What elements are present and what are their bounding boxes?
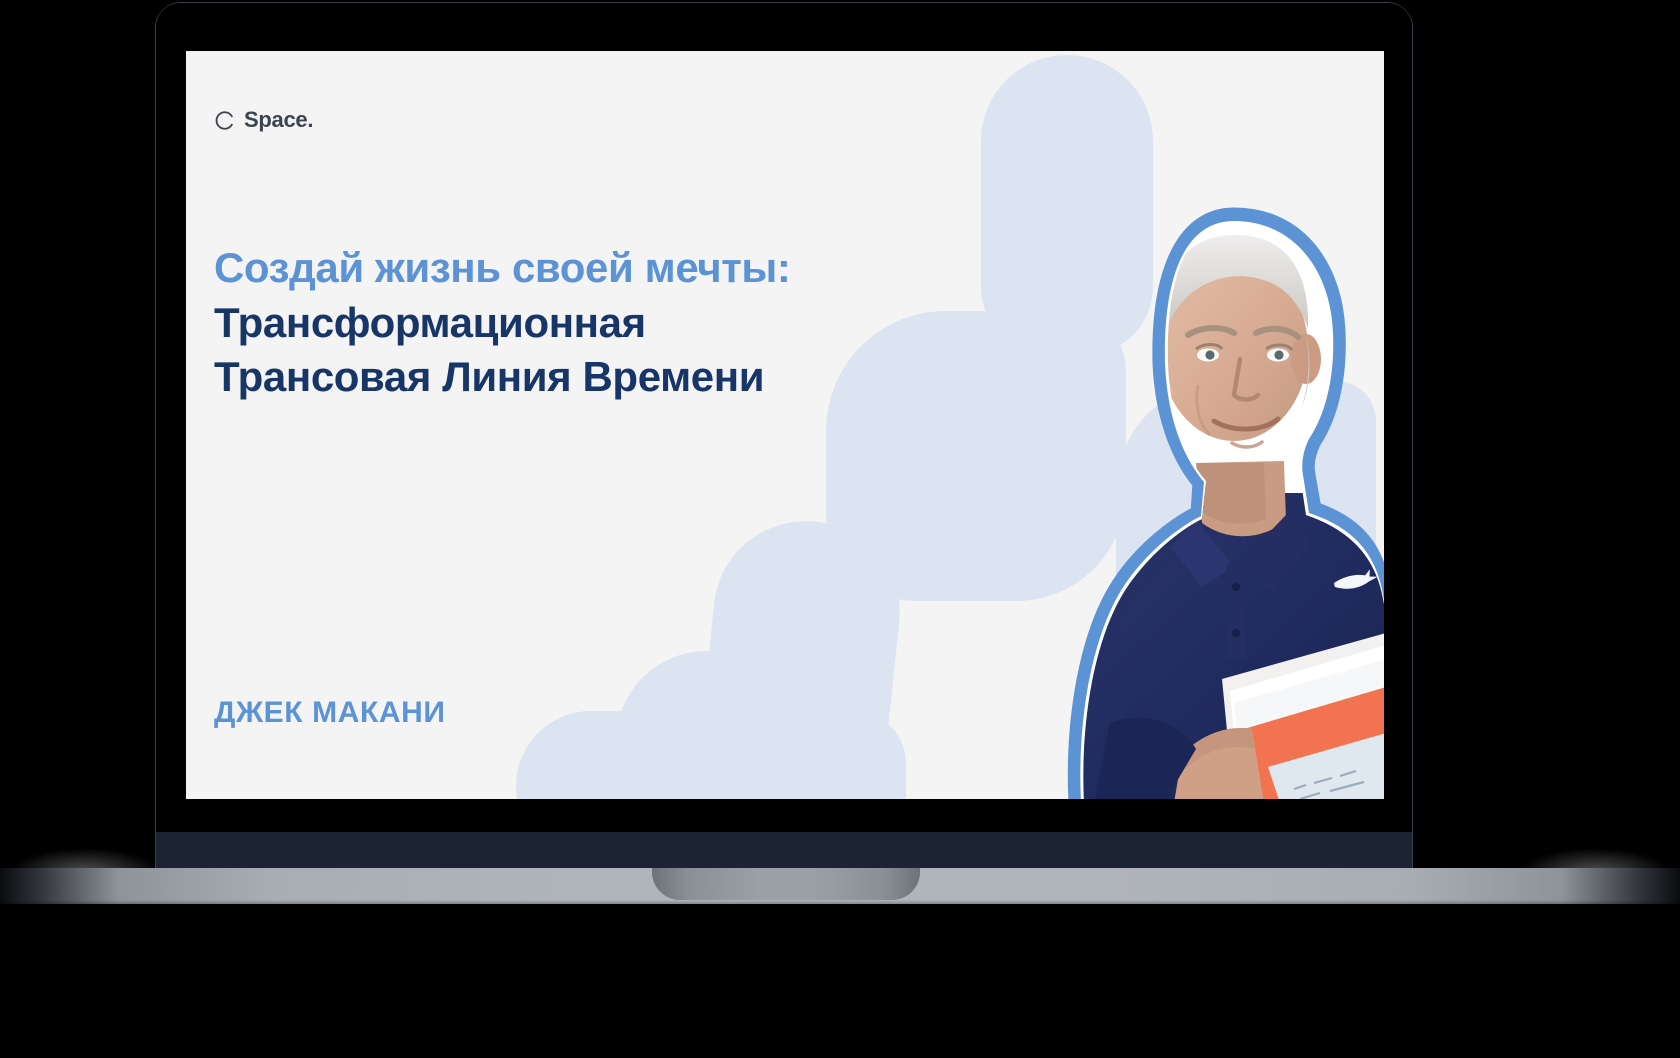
screenshot-stage: Space. Создай жизнь своей мечты: Трансфо…	[0, 0, 1680, 1058]
laptop-lid: Space. Создай жизнь своей мечты: Трансфо…	[155, 2, 1413, 832]
laptop-screen: Space. Создай жизнь своей мечты: Трансфо…	[186, 51, 1384, 799]
laptop-drop-shadow	[0, 900, 1680, 916]
title-line-2: Трансформационная	[214, 296, 974, 351]
laptop-base-notch	[652, 868, 920, 900]
slide-title: Создай жизнь своей мечты: Трансформацион…	[214, 241, 974, 405]
circle-arc-icon	[214, 110, 235, 131]
presentation-slide: Space. Создай жизнь своей мечты: Трансфо…	[186, 51, 1384, 799]
speaker-photo	[934, 163, 1384, 799]
title-line-1: Создай жизнь своей мечты:	[214, 241, 974, 296]
speaker-name: ДЖЕК МАКАНИ	[214, 696, 446, 730]
brand-logo: Space.	[214, 107, 313, 133]
laptop-deck	[155, 832, 1413, 870]
brand-logo-text: Space.	[244, 107, 313, 133]
decor-blob-shape	[516, 711, 906, 799]
title-line-3: Трансовая Линия Времени	[214, 350, 974, 405]
